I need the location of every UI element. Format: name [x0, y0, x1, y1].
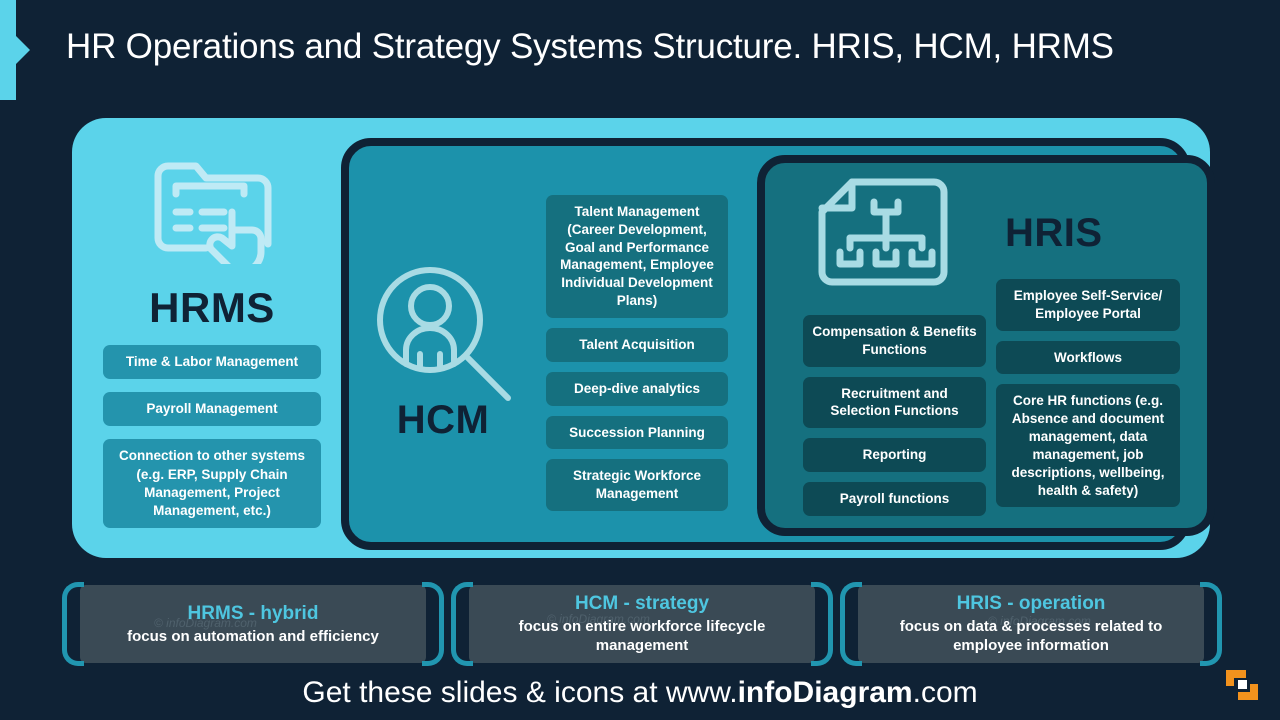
hris-chip-core-hr-functions[interactable]: Core HR functions (e.g. Absence and docu… [996, 384, 1180, 507]
hcm-chip-succession-planning[interactable]: Succession Planning [546, 416, 728, 450]
footer-brand: infoDiagram [738, 676, 913, 709]
hcm-label: HCM [397, 398, 490, 443]
legend-card-hrms[interactable]: HRMS - hybrid focus on automation and ef… [62, 582, 444, 666]
hcm-chip-talent-acquisition[interactable]: Talent Acquisition [546, 328, 728, 362]
hcm-identity: HCM [368, 262, 518, 443]
legend-row: HRMS - hybrid focus on automation and ef… [62, 582, 1222, 666]
hrms-chip-time-labor[interactable]: Time & Labor Management [103, 345, 321, 379]
hcm-content: Talent Management (Career Development, G… [546, 195, 728, 521]
legend-text: HRMS - hybrid focus on automation and ef… [101, 602, 405, 646]
legend-subtext: focus on automation and efficiency [127, 627, 379, 646]
magnifier-person-icon [372, 262, 514, 404]
legend-heading: HCM - strategy [477, 592, 807, 616]
hcm-chip-deep-dive-analytics[interactable]: Deep-dive analytics [546, 372, 728, 406]
hris-content-left: Compensation & Benefits Functions Recrui… [803, 315, 986, 526]
hris-chip-reporting[interactable]: Reporting [803, 438, 986, 472]
legend-subtext: focus on entire workforce lifecycle mana… [477, 617, 807, 655]
hris-chip-workflows[interactable]: Workflows [996, 341, 1180, 375]
hris-content-right: Employee Self-Service/ Employee Portal W… [996, 279, 1180, 517]
bracket-right-icon [422, 582, 444, 666]
legend-text: HRIS - operation focus on data & process… [840, 592, 1222, 655]
hrms-chip-payroll[interactable]: Payroll Management [103, 392, 321, 426]
legend-card-hris[interactable]: HRIS - operation focus on data & process… [840, 582, 1222, 666]
legend-subtext: focus on data & processes related to emp… [866, 617, 1196, 655]
legend-card-hcm[interactable]: HCM - strategy focus on entire workforce… [451, 582, 833, 666]
infodiagram-logo-icon [1222, 666, 1262, 704]
hrms-label: HRMS [149, 284, 275, 332]
document-list-hand-icon [146, 146, 278, 264]
hris-label: HRIS [1005, 211, 1103, 256]
legend-text: HCM - strategy focus on entire workforce… [451, 592, 833, 655]
bracket-left-icon [62, 582, 84, 666]
hcm-chip-strategic-workforce[interactable]: Strategic Workforce Management [546, 459, 728, 511]
hrms-content: HRMS Time & Labor Management Payroll Man… [88, 132, 336, 528]
footer-cta: Get these slides & icons at www.infoDiag… [0, 676, 1280, 710]
hcm-chip-talent-management[interactable]: Talent Management (Career Development, G… [546, 195, 728, 318]
hris-chip-employee-self-service[interactable]: Employee Self-Service/ Employee Portal [996, 279, 1180, 331]
hris-chip-recruitment-selection[interactable]: Recruitment and Selection Functions [803, 377, 986, 429]
hrms-chip-connections[interactable]: Connection to other systems (e.g. ERP, S… [103, 439, 321, 528]
legend-heading: HRMS - hybrid [127, 602, 379, 626]
document-orgchart-icon [818, 176, 948, 288]
hris-chip-payroll-functions[interactable]: Payroll functions [803, 482, 986, 516]
footer-prefix: Get these slides & icons at www. [302, 676, 737, 709]
hris-chip-compensation-benefits[interactable]: Compensation & Benefits Functions [803, 315, 986, 367]
footer-suffix: .com [913, 676, 978, 709]
legend-heading: HRIS - operation [866, 592, 1196, 616]
